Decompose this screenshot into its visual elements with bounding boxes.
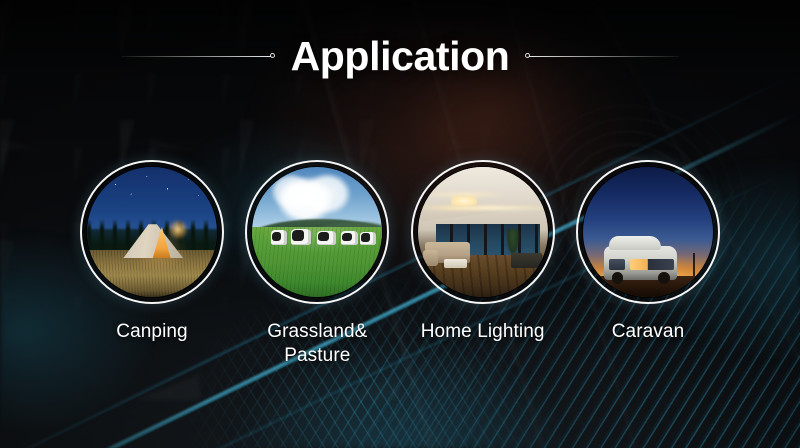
image-home-lighting (418, 167, 548, 297)
room-ceiling-fixture (451, 196, 477, 206)
grassland-cattle (252, 222, 382, 245)
image-caravan (583, 167, 713, 297)
grassland-cloud (271, 170, 357, 225)
room-coffee-table (444, 259, 467, 268)
circle-frame-caravan (576, 160, 720, 304)
caravan-front-wheel (612, 272, 624, 284)
scene-night-camping (87, 167, 217, 297)
scene-living-room (418, 167, 548, 297)
application-card-caravan[interactable]: Caravan (574, 160, 722, 344)
circle-frame-home-lighting (411, 160, 555, 304)
card-caption-home-lighting: Home Lighting (409, 320, 557, 344)
title-rule-left-icon (121, 55, 273, 58)
circle-frame-grassland (245, 160, 389, 304)
title-rule-left-cap-icon (270, 53, 275, 58)
caravan-roof-pod (609, 236, 661, 250)
scene-caravan-dusk (583, 167, 713, 297)
page-title: Application (291, 36, 510, 77)
application-card-list: Canping (78, 160, 722, 369)
scene-grassland-pasture (252, 167, 382, 297)
title-rule-right-cap-icon (525, 53, 530, 58)
page-header: Application (0, 30, 800, 82)
application-card-home-lighting[interactable]: Home Lighting (409, 160, 557, 344)
caravan-rear-wheel (658, 272, 670, 284)
camping-lantern (168, 219, 189, 240)
application-card-camping[interactable]: Canping (78, 160, 226, 344)
card-caption-camping: Canping (78, 320, 226, 344)
caravan-side-windows (630, 259, 674, 269)
title-rule-right-icon (527, 55, 679, 58)
caravan-pole (693, 253, 695, 276)
card-caption-grassland-pasture: Grassland& Pasture (243, 320, 391, 369)
room-cove-light (423, 206, 543, 210)
room-armchair (423, 250, 439, 266)
application-card-grassland-pasture[interactable]: Grassland& Pasture (243, 160, 391, 369)
caravan-front-window (609, 259, 625, 269)
room-plant (507, 229, 519, 255)
image-grassland (252, 167, 382, 297)
room-media-cabinet (511, 253, 542, 269)
application-slide: Application (0, 0, 800, 448)
card-caption-caravan: Caravan (574, 320, 722, 344)
image-camping (87, 167, 217, 297)
circle-frame-camping (80, 160, 224, 304)
